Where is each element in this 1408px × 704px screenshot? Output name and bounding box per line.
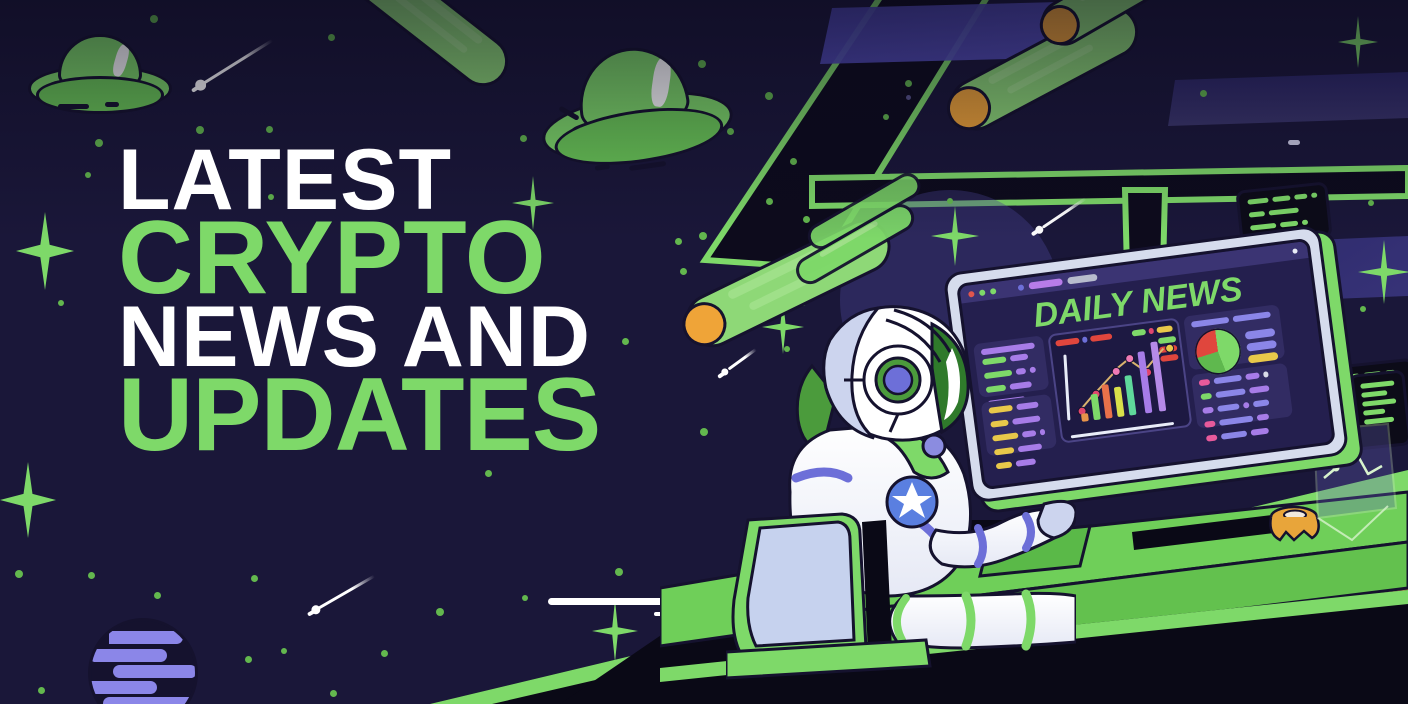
- sparkle-star-icon: [592, 600, 638, 662]
- data-bar: [1082, 336, 1088, 343]
- chart-bar: [1101, 384, 1112, 419]
- data-bar: [1245, 372, 1260, 380]
- chart-bar: [1081, 413, 1089, 422]
- data-bar: [1090, 333, 1113, 342]
- data-bar: [1217, 403, 1240, 412]
- sparkle-star-icon: [1358, 240, 1408, 304]
- headline-line-4: UPDATES: [118, 371, 718, 460]
- data-bar: [1257, 413, 1270, 421]
- astronaut-svg: [726, 296, 1076, 704]
- data-bar: [1250, 428, 1269, 436]
- pie-legend-item: [1248, 352, 1279, 364]
- chart-bar: [1114, 386, 1125, 417]
- data-bar: [1233, 311, 1271, 322]
- legend-chip: [1158, 336, 1177, 344]
- window-min-dot-icon[interactable]: [979, 289, 986, 296]
- pie-legend-item: [1246, 340, 1277, 352]
- data-bar: [1132, 329, 1147, 337]
- comet-top-left: [337, 0, 514, 88]
- ufo-left: [28, 34, 166, 126]
- streak-line: [548, 598, 672, 605]
- data-bar: [1243, 402, 1250, 409]
- chart-bar: [1091, 394, 1101, 421]
- tab-favicon-icon: [1018, 284, 1025, 291]
- data-bar: [1213, 375, 1242, 385]
- astronaut: [726, 296, 1076, 704]
- shooting-star-icon: [1036, 198, 1086, 232]
- legend-chip: [1160, 354, 1179, 362]
- browser-tab-inactive[interactable]: [1067, 274, 1098, 285]
- data-bar: [1221, 430, 1248, 439]
- list-tag: [1202, 407, 1214, 414]
- shooting-star-icon: [196, 40, 272, 88]
- page-title: LATEST CRYPTO NEWS AND UPDATES: [118, 144, 718, 461]
- sparkle-star-icon: [1338, 16, 1378, 68]
- banner-root: LATEST CRYPTO NEWS AND UPDATES: [0, 0, 1408, 704]
- pie-card: [1183, 304, 1285, 370]
- list-tag: [1200, 393, 1212, 400]
- list-tag: [1206, 434, 1218, 441]
- line-point: [1111, 366, 1121, 376]
- list-tag: [1199, 379, 1211, 386]
- dashboard-right-column: [1183, 304, 1293, 426]
- shooting-star-icon: [312, 576, 374, 612]
- sparkle-star-icon: [0, 462, 56, 538]
- window-max-dot-icon[interactable]: [990, 287, 997, 294]
- data-bar: [1156, 325, 1173, 333]
- data-bar: [1253, 399, 1270, 407]
- chart-x-axis: [1071, 422, 1175, 439]
- data-bar: [1191, 317, 1229, 328]
- list-tag: [1204, 420, 1216, 427]
- planet-striped: [88, 618, 198, 704]
- data-bar: [1219, 416, 1253, 426]
- data-bar: [1263, 371, 1269, 378]
- data-bar: [1148, 328, 1154, 335]
- list-card: [1191, 363, 1293, 429]
- sparkle-star-icon: [931, 206, 979, 266]
- data-bar: [1215, 388, 1246, 398]
- chart-bar: [1124, 375, 1136, 416]
- sparkle-star-icon: [16, 212, 74, 290]
- browser-tab-active[interactable]: [1028, 278, 1063, 289]
- data-bar: [1249, 385, 1270, 394]
- pie-legend-item: [1245, 328, 1276, 340]
